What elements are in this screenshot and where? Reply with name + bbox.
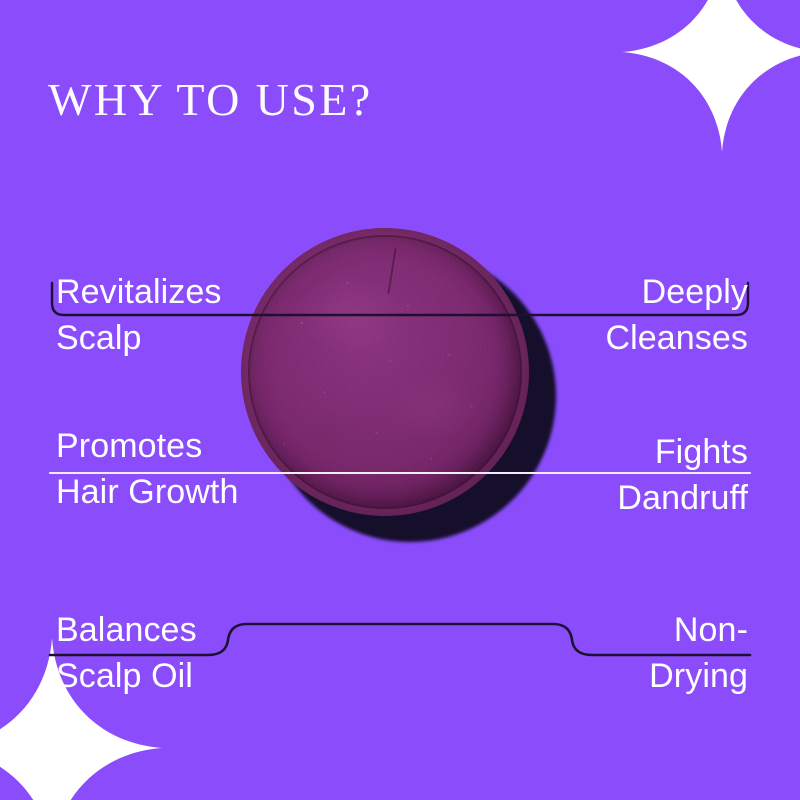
product-soap-disc bbox=[241, 228, 529, 516]
benefit-label-fights-dandruff: Fights Dandruff bbox=[617, 430, 748, 521]
page-title: WHY TO USE? bbox=[48, 77, 373, 123]
four-point-star-icon bbox=[622, 0, 800, 152]
product-shampoo-bar bbox=[236, 224, 566, 554]
benefit-label-non-drying: Non- Drying bbox=[649, 608, 748, 699]
product-rim bbox=[241, 228, 529, 516]
benefit-label-deeply-cleanses: Deeply Cleanses bbox=[605, 270, 748, 361]
benefit-label-balances-scalp-oil: Balances Scalp Oil bbox=[56, 608, 197, 699]
benefit-label-promotes-hair-growth: Promotes Hair Growth bbox=[56, 424, 238, 515]
benefit-label-revitalizes-scalp: Revitalizes Scalp bbox=[56, 270, 222, 361]
infographic-canvas: WHY TO USE? Revitalizes Scalp Deeply Cle… bbox=[0, 0, 800, 800]
